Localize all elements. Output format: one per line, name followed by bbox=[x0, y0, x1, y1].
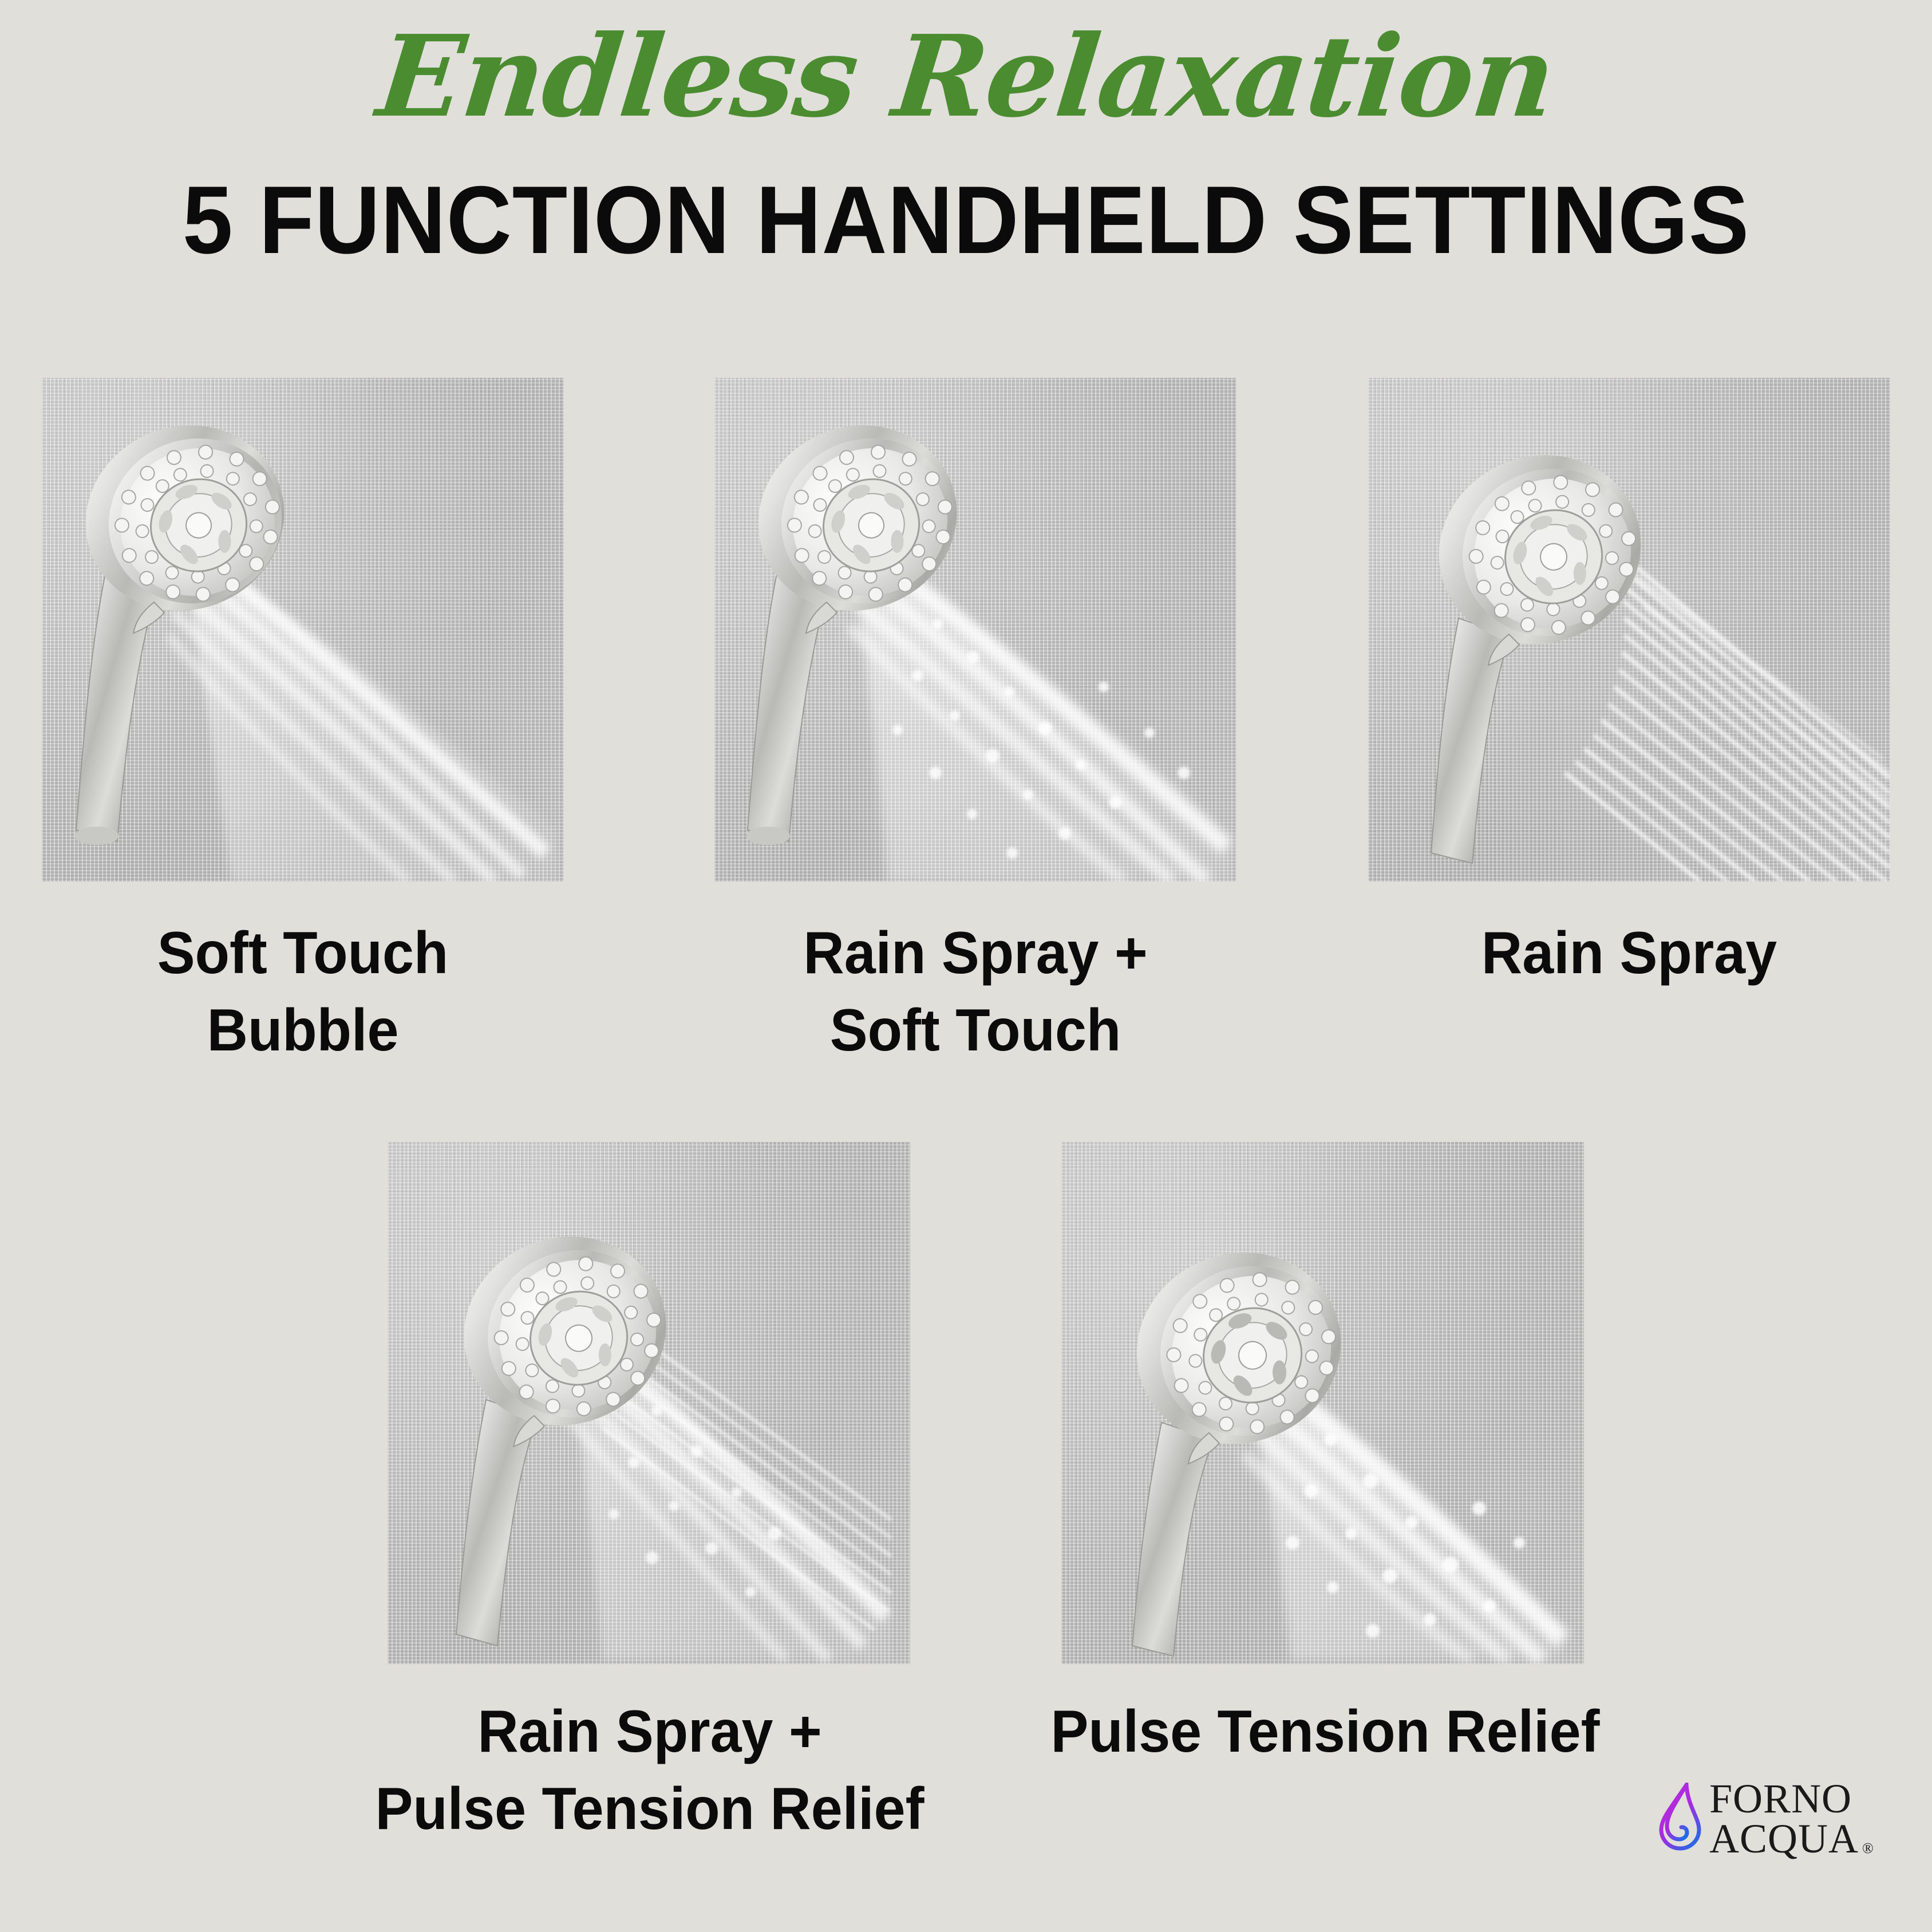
shower-head-image-4 bbox=[388, 1142, 910, 1664]
shower-head-image-1 bbox=[42, 378, 564, 882]
brand-line-1: FORNO bbox=[1709, 1779, 1874, 1819]
setting-caption-5: Pulse Tension Relief bbox=[1045, 1693, 1606, 1771]
water-drop-spiral-icon bbox=[1652, 1783, 1707, 1851]
shower-head-image-2 bbox=[714, 378, 1236, 882]
product-tile-1 bbox=[42, 378, 564, 882]
product-tile-2 bbox=[714, 378, 1236, 882]
page-title-main: 5 FUNCTION HANDHELD SETTINGS bbox=[58, 172, 1874, 268]
registered-trademark-symbol: ® bbox=[1862, 1841, 1874, 1855]
brand-line-2: ACQUA bbox=[1709, 1819, 1859, 1859]
shower-head-image-5 bbox=[1061, 1142, 1584, 1664]
setting-caption-4: Rain Spray + Pulse Tension Relief bbox=[351, 1693, 949, 1848]
setting-caption-2: Rain Spray + Soft Touch bbox=[728, 915, 1223, 1069]
product-tile-3 bbox=[1368, 378, 1890, 882]
product-tile-5 bbox=[1061, 1142, 1584, 1664]
product-tile-4 bbox=[388, 1142, 910, 1664]
shower-head-image-3 bbox=[1368, 378, 1890, 882]
brand-logo: FORNO ACQUA ® bbox=[1652, 1781, 1881, 1884]
page-title-script: Endless Relaxation bbox=[0, 18, 1932, 136]
setting-caption-1: Soft Touch Bubble bbox=[55, 915, 551, 1069]
setting-caption-3: Rain Spray bbox=[1381, 915, 1877, 992]
brand-wordmark: FORNO ACQUA ® bbox=[1709, 1779, 1874, 1859]
